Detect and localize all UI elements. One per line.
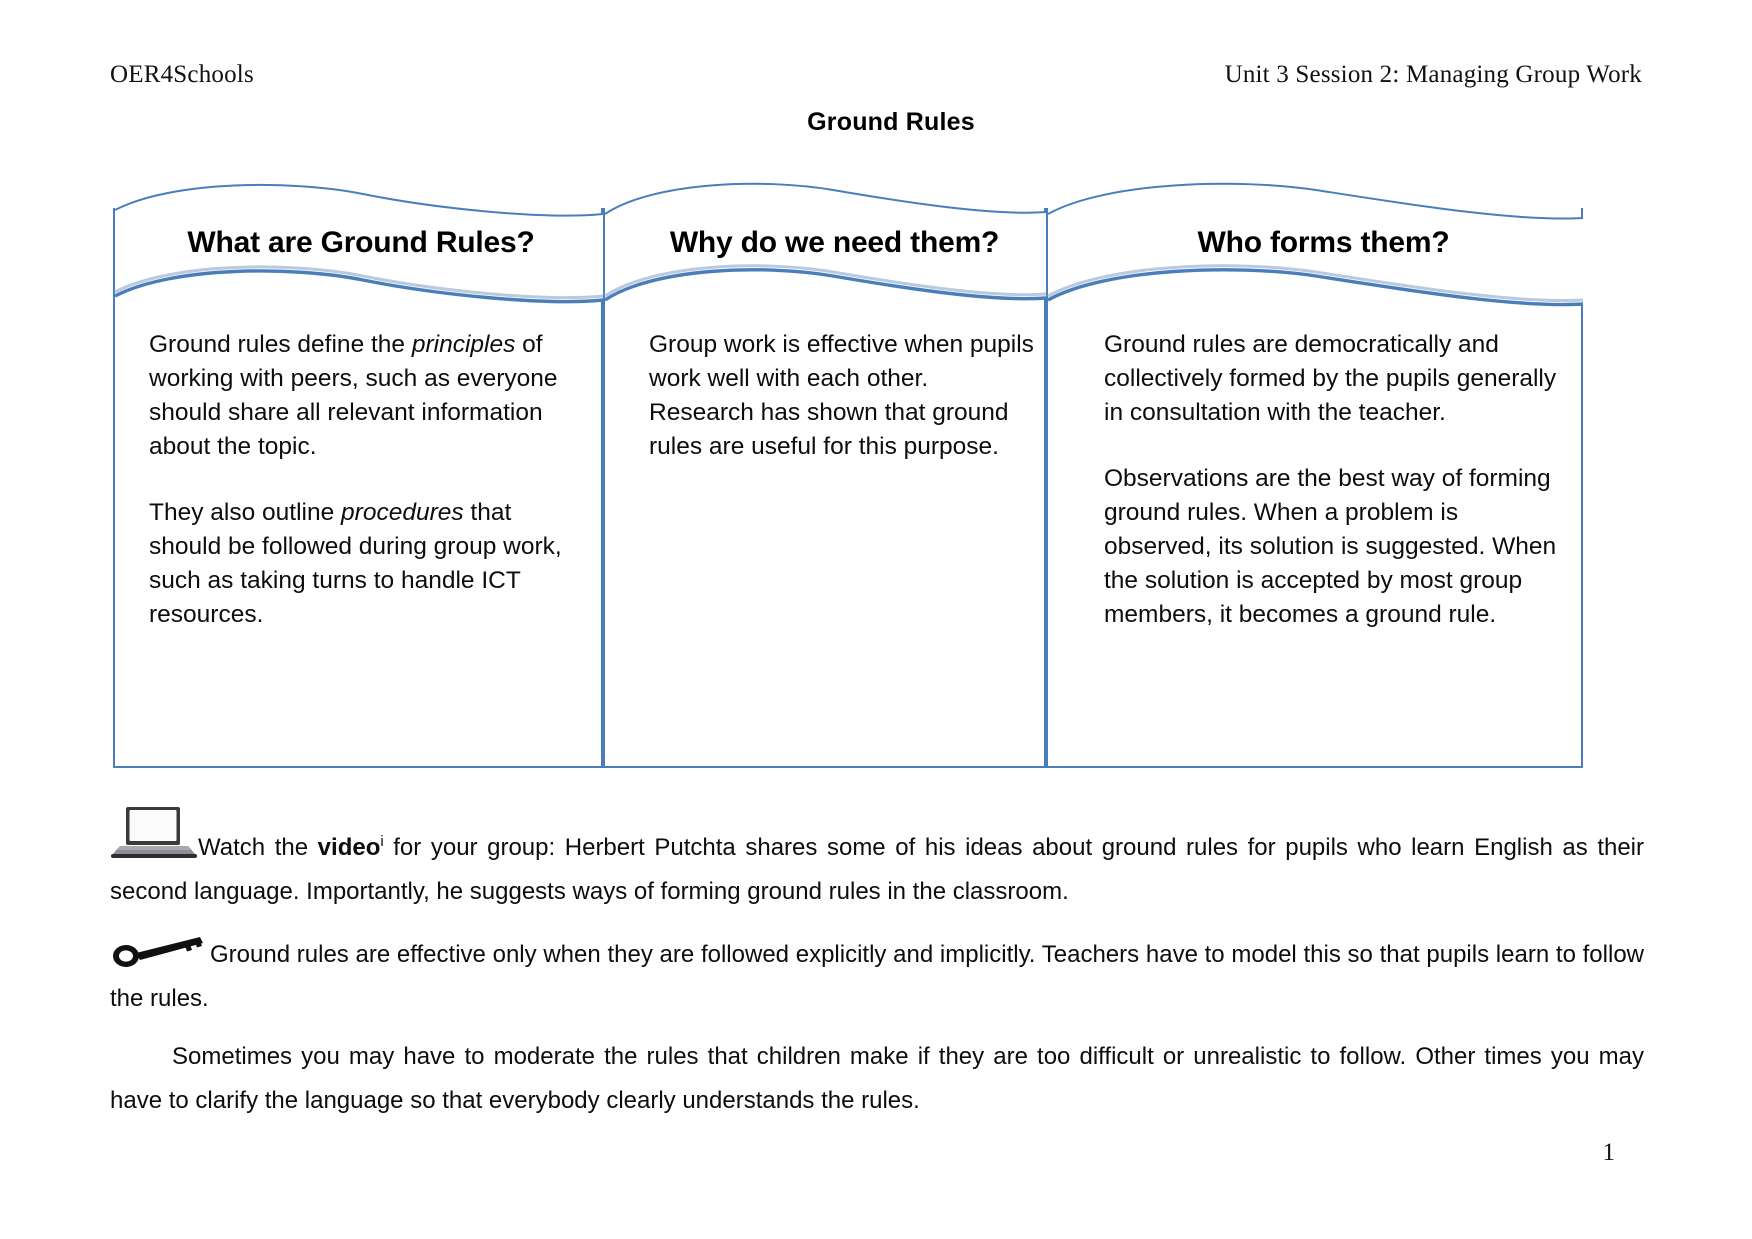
document-header: OER4Schools Unit 3 Session 2: Managing G…	[110, 60, 1642, 94]
column-left-border	[113, 208, 115, 768]
column-paragraph: They also outline procedures that should…	[149, 496, 583, 632]
key-paragraph-text: Ground rules are effective only when the…	[110, 941, 1644, 1012]
header-right-text: Unit 3 Session 2: Managing Group Work	[1225, 60, 1642, 90]
ground-rules-table: What are Ground Rules? Ground rules defi…	[113, 178, 1583, 768]
column-who-forms-them: Who forms them? Ground rules are democra…	[1046, 178, 1583, 768]
text-run: Ground rules are democratically and coll…	[1104, 331, 1556, 426]
column-bottom-border	[113, 766, 603, 768]
key-paragraph: Ground rules are effective only when the…	[110, 928, 1644, 1021]
column-paragraph: Observations are the best way of forming…	[1104, 462, 1563, 632]
column-left-border	[1046, 208, 1048, 768]
video-bold-word[interactable]: video	[318, 834, 381, 861]
column-bottom-border	[603, 766, 1046, 768]
column-banner-title: Who forms them?	[1046, 226, 1583, 260]
key-icon	[110, 934, 210, 983]
video-paragraph: Watch the videoi for your group: Herbert…	[110, 805, 1644, 914]
column-why-do-we-need-them: Why do we need them? Group work is effec…	[603, 178, 1046, 768]
column-bottom-border	[1046, 766, 1583, 768]
emphasis-term: principles	[412, 331, 516, 358]
text-run: Observations are the best way of forming…	[1104, 465, 1556, 628]
text-run: Ground rules define the	[149, 331, 412, 358]
column-body-text: Ground rules are democratically and coll…	[1104, 328, 1563, 632]
page-number: 1	[1603, 1139, 1616, 1167]
column-body-text: Group work is effective when pupils work…	[649, 328, 1036, 464]
column-banner-title: What are Ground Rules?	[113, 226, 603, 260]
laptop-icon	[110, 805, 198, 870]
closing-paragraph: Sometimes you may have to moderate the r…	[110, 1035, 1644, 1123]
header-left-text: OER4Schools	[110, 60, 254, 90]
prose-section: Watch the videoi for your group: Herbert…	[110, 805, 1644, 1137]
text-run: Group work is effective when pupils work…	[649, 331, 1034, 460]
column-paragraph: Ground rules define the principles of wo…	[149, 328, 583, 464]
column-banner-title: Why do we need them?	[603, 226, 1046, 260]
column-left-border	[603, 208, 605, 768]
column-right-border	[1581, 208, 1583, 768]
emphasis-term: procedures	[341, 499, 464, 526]
laptop-icon-glyph	[110, 805, 198, 861]
key-icon-glyph	[110, 934, 206, 968]
text-run: They also outline	[149, 499, 341, 526]
video-text-before: Watch the	[198, 834, 318, 861]
column-body-text: Ground rules define the principles of wo…	[149, 328, 583, 632]
column-paragraph: Group work is effective when pupils work…	[649, 328, 1036, 464]
column-paragraph: Ground rules are democratically and coll…	[1104, 328, 1563, 430]
page-title: Ground Rules	[0, 108, 1752, 137]
column-what-are-ground-rules: What are Ground Rules? Ground rules defi…	[113, 178, 603, 768]
